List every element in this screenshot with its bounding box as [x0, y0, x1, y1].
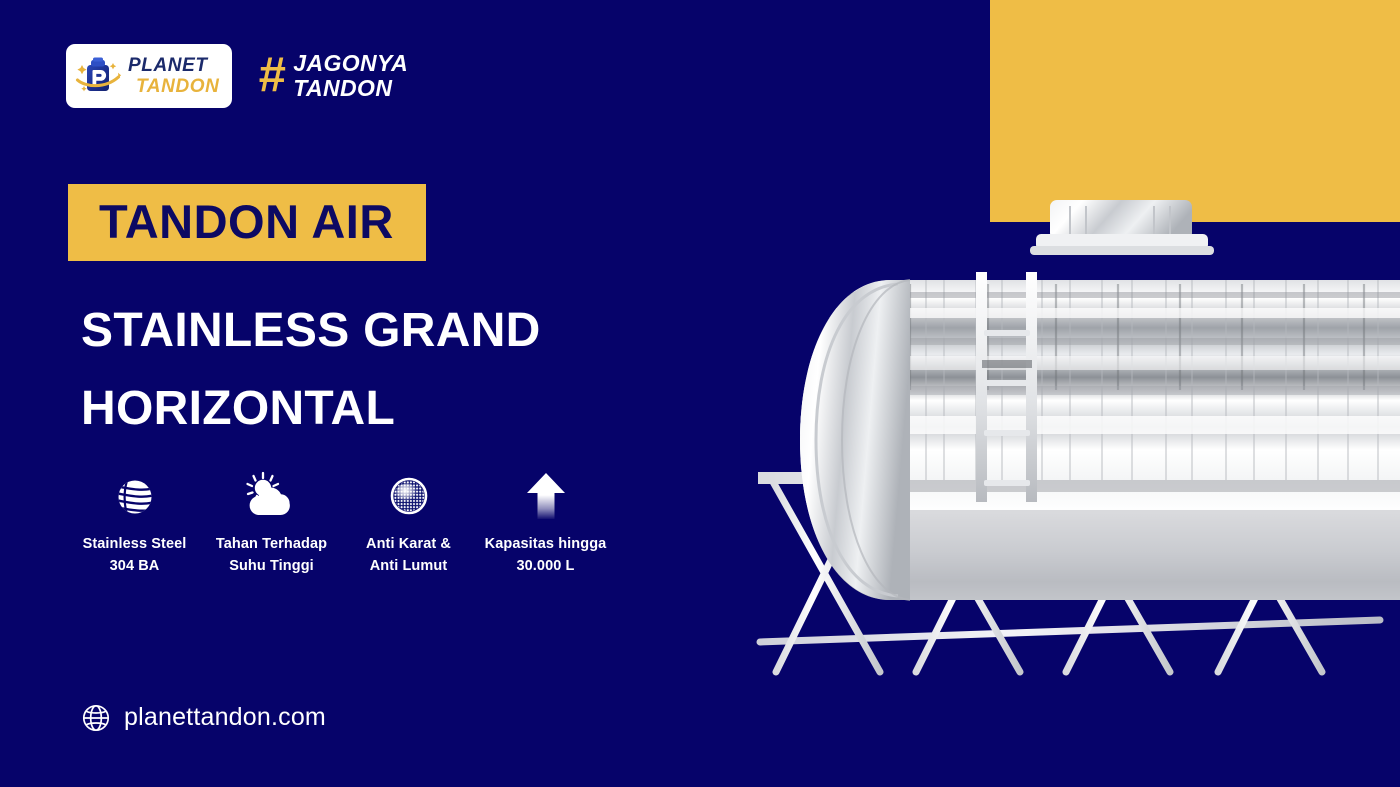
- globe-icon: [82, 704, 110, 732]
- hashtag-words: JAGONYA TANDON: [293, 51, 408, 101]
- headline-line-1: STAINLESS GRAND: [81, 292, 741, 370]
- banner-header: PLANET TANDON # JAGONYA TANDON: [66, 44, 408, 108]
- hashtag-tagline: # JAGONYA TANDON: [258, 51, 408, 101]
- sun-cloud-icon: [244, 470, 300, 522]
- logo-planet-text: PLANET: [128, 56, 219, 75]
- eyebrow-badge: TANDON AIR: [68, 184, 426, 261]
- feature-item-stainless-steel: Stainless Steel304 BA: [66, 470, 203, 577]
- planet-tandon-logo[interactable]: PLANET TANDON: [66, 44, 232, 108]
- logo-wordmark: PLANET TANDON: [128, 56, 219, 96]
- up-arrow-icon: [524, 470, 568, 522]
- feature-label-capacity: Kapasitas hingga30.000 L: [485, 533, 607, 577]
- hashtag-line-2: TANDON: [293, 76, 408, 101]
- feature-label-anti-rust: Anti Karat &Anti Lumut: [366, 533, 451, 577]
- tank-logo-icon: [75, 53, 121, 99]
- promo-banner: PLANET TANDON # JAGONYA TANDON TANDON AI…: [0, 0, 1400, 787]
- feature-label-heat-resistant: Tahan TerhadapSuhu Tinggi: [216, 533, 327, 577]
- feature-label-stainless-steel: Stainless Steel304 BA: [83, 533, 187, 577]
- website-link[interactable]: planettandon.com: [82, 703, 326, 732]
- hashtag-line-1: JAGONYA: [293, 51, 408, 76]
- eyebrow-text: TANDON AIR: [99, 198, 394, 245]
- steel-sphere-icon: [111, 470, 159, 522]
- feature-list: Stainless Steel304 BA: [66, 470, 614, 577]
- feature-item-heat-resistant: Tahan TerhadapSuhu Tinggi: [203, 470, 340, 577]
- hash-symbol-icon: #: [258, 55, 284, 97]
- feature-item-capacity: Kapasitas hingga30.000 L: [477, 470, 614, 577]
- logo-tandon-text: TANDON: [136, 77, 219, 96]
- website-url-text: planettandon.com: [124, 703, 326, 732]
- page-title: STAINLESS GRAND HORIZONTAL: [81, 292, 741, 448]
- anti-rust-ball-icon: [385, 470, 433, 522]
- headline-line-2: HORIZONTAL: [81, 370, 741, 448]
- product-image-stage: [730, 180, 1400, 680]
- feature-item-anti-rust: Anti Karat &Anti Lumut: [340, 470, 477, 577]
- horizontal-water-tank-illustration: [730, 180, 1400, 680]
